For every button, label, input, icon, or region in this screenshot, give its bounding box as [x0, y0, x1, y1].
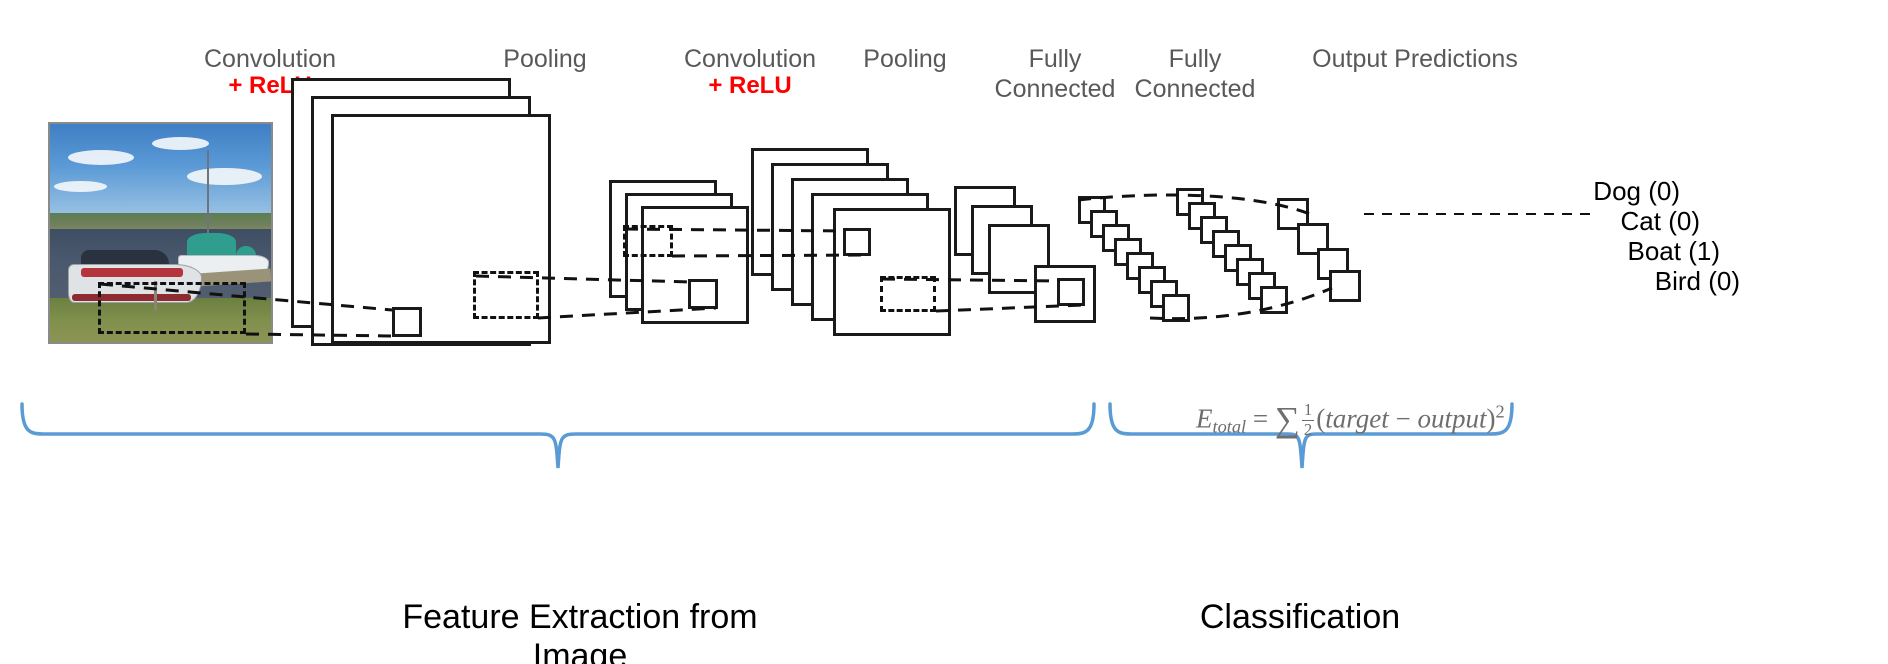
receptive-field-box-conv1	[473, 271, 539, 319]
loss-formula-one-half: 12	[1302, 401, 1314, 438]
caption-feature-extraction: Feature Extraction from Image	[370, 598, 790, 664]
fraction-denominator: 2	[1302, 421, 1314, 439]
loss-formula-output: output	[1418, 404, 1487, 434]
loss-formula-equals: =	[1253, 404, 1268, 434]
fraction-numerator: 1	[1302, 401, 1314, 420]
prediction-label-cat: Cat (0)	[1500, 206, 1700, 237]
loss-formula-exponent: 2	[1496, 401, 1505, 421]
conv1-kernel-window	[392, 307, 422, 337]
loss-formula-target: target	[1325, 404, 1389, 434]
stage-label-output-predictions: Output Predictions	[1255, 44, 1575, 74]
loss-formula-lhs: E	[1196, 404, 1213, 434]
receptive-field-box-input	[98, 282, 246, 334]
photo-teal-canopy	[187, 233, 236, 255]
loss-formula-lhs-subscript: total	[1213, 417, 1247, 437]
pool2-kernel-window	[1057, 278, 1085, 306]
pool1-kernel-window	[688, 279, 718, 309]
brace-feature-extraction	[22, 404, 1094, 468]
loss-formula-close-paren: )	[1487, 404, 1496, 434]
conv2-kernel-window	[843, 228, 871, 256]
caption-classification: Classification	[1140, 598, 1460, 637]
stage-label-convolution-1: Convolution	[130, 44, 410, 74]
fc2-unit	[1260, 286, 1288, 314]
prediction-label-bird: Bird (0)	[1540, 266, 1740, 297]
summation-sigma-icon: ∑	[1275, 400, 1300, 439]
loss-formula: Etotal = ∑12(target − output)2	[1196, 400, 1505, 440]
prediction-label-boat: Boat (1)	[1520, 236, 1720, 267]
receptive-field-box-pool1	[623, 225, 673, 257]
loss-formula-open-paren: (	[1316, 404, 1325, 434]
photo-cloud	[187, 168, 262, 185]
relu-label-2: + ReLU	[610, 72, 890, 100]
receptive-field-box-conv2	[880, 276, 936, 312]
fc1-unit	[1162, 294, 1190, 322]
loss-formula-minus: −	[1396, 404, 1411, 434]
prediction-label-dog: Dog (0)	[1480, 176, 1680, 207]
output-unit-bird	[1329, 270, 1361, 302]
photo-motorboat-red-stripe	[81, 268, 183, 277]
cnn-architecture-diagram: Convolution + ReLU Pooling Convolution +…	[0, 0, 1888, 664]
photo-cloud	[54, 181, 107, 192]
